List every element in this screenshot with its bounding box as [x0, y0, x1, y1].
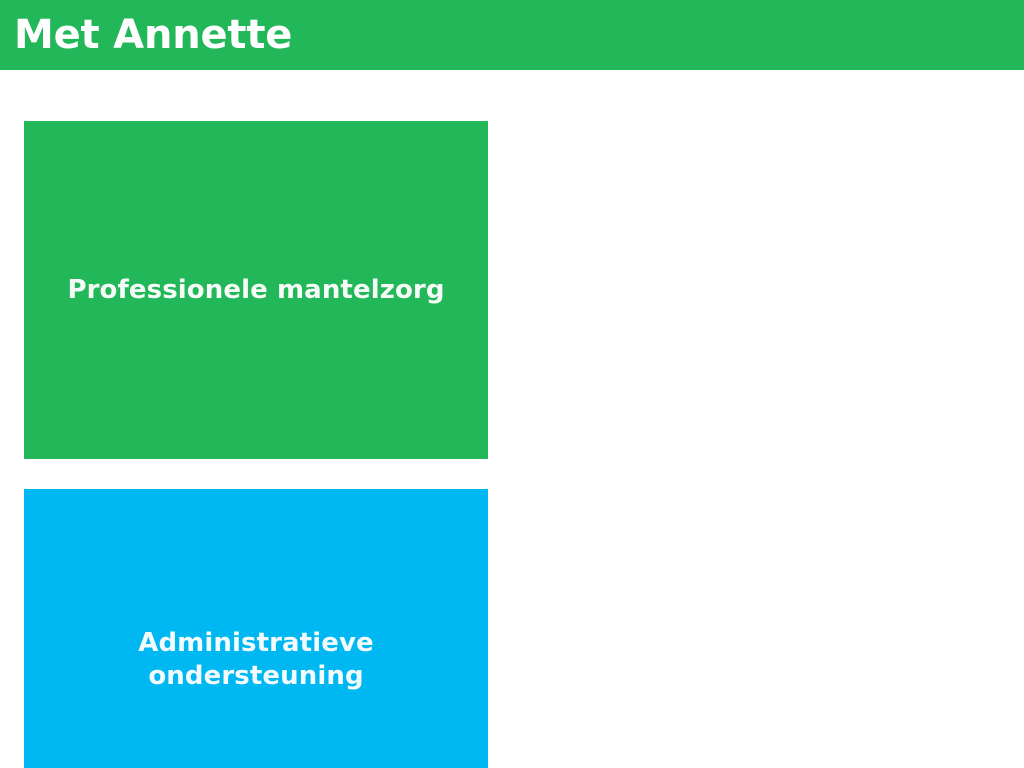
cards-column: Professionele mantelzorg Administratieve…: [24, 121, 488, 768]
card-administratieve-ondersteuning[interactable]: Administratieve ondersteuning: [24, 489, 488, 768]
card-label-administratieve-ondersteuning: Administratieve ondersteuning: [106, 627, 406, 693]
card-professionele-mantelzorg[interactable]: Professionele mantelzorg: [24, 121, 488, 459]
header-bar: Met Annette: [0, 0, 1024, 70]
slide-canvas: Met Annette Professionele mantelzorg Adm…: [0, 0, 1024, 768]
card-label-professionele-mantelzorg: Professionele mantelzorg: [67, 274, 444, 307]
page-title: Met Annette: [14, 15, 292, 55]
